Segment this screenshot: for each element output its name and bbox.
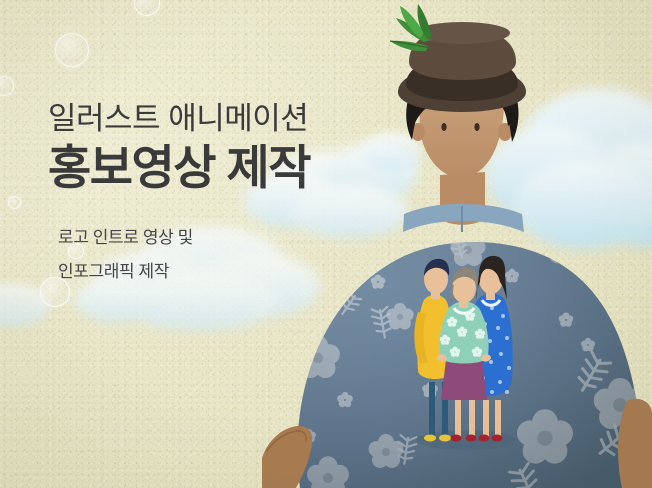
eye-left — [441, 123, 446, 131]
poster-text-block: 일러스트 애니메이션 홍보영상 제작 로고 인트로 영상 및 인포그래픽 제작 — [48, 100, 310, 289]
title-line-2: 홍보영상 제작 — [48, 140, 310, 195]
hand-right — [618, 399, 652, 488]
eye-right — [474, 123, 479, 131]
subtitle-line-1: 로고 인트로 영상 및 — [58, 221, 310, 255]
subtitle-block: 로고 인트로 영상 및 인포그래픽 제작 — [58, 221, 310, 289]
character-collar — [403, 204, 524, 232]
title-line-1: 일러스트 애니메이션 — [48, 100, 310, 138]
poster-canvas: 일러스트 애니메이션 홍보영상 제작 로고 인트로 영상 및 인포그래픽 제작 — [0, 0, 652, 488]
subtitle-line-2: 인포그래픽 제작 — [58, 255, 310, 289]
